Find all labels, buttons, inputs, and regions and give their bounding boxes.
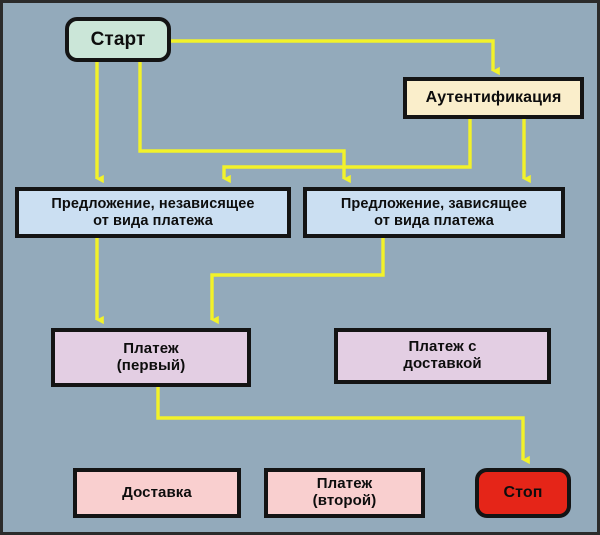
node-delivery[interactable]: Доставка: [73, 468, 241, 518]
node-proposal-dependent-line1: Предложение, зависящее: [335, 196, 533, 212]
node-proposal-dependent[interactable]: Предложение, зависящее от вида платежа: [303, 187, 565, 238]
node-proposal-independent[interactable]: Предложение, независящее от вида платежа: [15, 187, 291, 238]
node-payment-second[interactable]: Платеж (второй): [264, 468, 425, 518]
node-payment-with-delivery-label: Платеж с доставкой: [391, 339, 493, 373]
node-payment-first[interactable]: Платеж (первый): [51, 328, 251, 387]
node-stop[interactable]: Стоп: [475, 468, 571, 518]
node-payment-second-line1: Платеж: [307, 476, 383, 493]
node-payment-first-line2: (первый): [111, 358, 192, 375]
edge-proposal-dependent-to-payment-first: [212, 238, 383, 320]
node-authentication-label: Аутентификация: [420, 89, 568, 107]
node-payment-with-delivery-line1: Платеж с: [397, 339, 487, 356]
node-proposal-independent-label: Предложение, независящее от вида платежа: [39, 196, 266, 228]
edge-payment-first-to-stop: [158, 387, 523, 460]
edge-start-to-authentication: [171, 41, 493, 71]
node-payment-with-delivery-line2: доставкой: [397, 356, 487, 373]
node-payment-first-label: Платеж (первый): [105, 341, 198, 375]
node-payment-second-label: Платеж (второй): [301, 476, 389, 510]
node-authentication[interactable]: Аутентификация: [403, 77, 584, 119]
node-start[interactable]: Старт: [65, 17, 171, 62]
flowchart-canvas: Старт Аутентификация Предложение, незави…: [0, 0, 600, 535]
node-delivery-label: Доставка: [116, 485, 198, 502]
node-proposal-dependent-label: Предложение, зависящее от вида платежа: [329, 196, 539, 228]
node-proposal-dependent-line2: от вида платежа: [335, 213, 533, 229]
node-proposal-independent-line2: от вида платежа: [45, 213, 260, 229]
node-payment-with-delivery[interactable]: Платеж с доставкой: [334, 328, 551, 384]
node-stop-label: Стоп: [497, 484, 548, 502]
edge-start-to-proposal-dependent: [140, 62, 344, 179]
node-payment-first-line1: Платеж: [111, 341, 192, 358]
node-start-label: Старт: [85, 29, 152, 50]
edge-authentication-to-proposal-independent: [224, 119, 470, 179]
node-payment-second-line2: (второй): [307, 493, 383, 510]
node-proposal-independent-line1: Предложение, независящее: [45, 196, 260, 212]
